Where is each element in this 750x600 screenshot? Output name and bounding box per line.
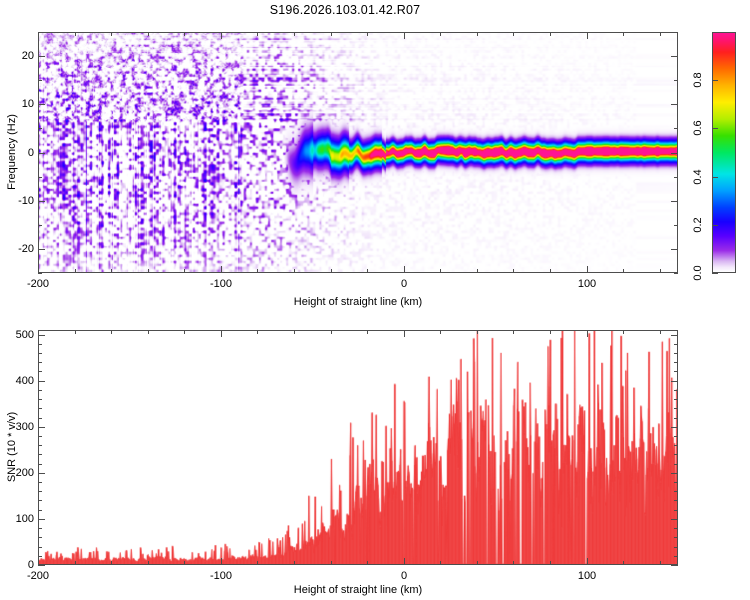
axis-tick-minor xyxy=(674,353,678,354)
page-title: S196.2026.103.01.42.R07 xyxy=(0,3,690,17)
colorbar-tick-label: 0.8 xyxy=(692,72,704,87)
axis-tick-minor xyxy=(38,399,42,400)
axis-tick-minor xyxy=(75,561,76,565)
axis-tick-minor xyxy=(674,418,678,419)
axis-tick-major xyxy=(587,266,588,273)
axis-tick-minor xyxy=(674,408,678,409)
spectrogram-plot-area xyxy=(38,32,678,273)
snr-x-axis-title: Height of straight line (km) xyxy=(294,584,422,596)
colorbar-tick-label: 0.6 xyxy=(692,120,704,135)
axis-tick-minor xyxy=(38,32,42,33)
x-tick-label: -200 xyxy=(27,570,49,582)
axis-tick-minor xyxy=(75,269,76,273)
axis-tick-minor xyxy=(674,390,678,391)
axis-tick-minor xyxy=(440,269,441,273)
colorbar xyxy=(712,32,736,273)
colorbar-gradient xyxy=(712,32,736,273)
axis-tick-major xyxy=(404,558,405,565)
axis-tick-minor xyxy=(623,330,624,334)
axis-tick-minor xyxy=(148,561,149,565)
axis-tick-major xyxy=(38,558,39,565)
spectrogram-y-axis-title: Frequency (Hz) xyxy=(6,114,18,190)
axis-tick-minor xyxy=(38,528,42,529)
axis-tick-minor xyxy=(513,330,514,334)
axis-tick-major xyxy=(221,32,222,39)
axis-tick-minor xyxy=(38,500,42,501)
axis-tick-minor xyxy=(674,273,678,274)
axis-tick-major xyxy=(671,249,678,250)
axis-tick-major xyxy=(38,104,45,105)
axis-tick-minor xyxy=(331,269,332,273)
axis-tick-minor xyxy=(674,80,678,81)
axis-tick-minor xyxy=(111,330,112,334)
y-tick-label: 20 xyxy=(6,50,34,62)
axis-tick-major xyxy=(404,266,405,273)
axis-tick-minor xyxy=(623,561,624,565)
axis-tick-minor xyxy=(674,371,678,372)
axis-tick-minor xyxy=(257,32,258,36)
axis-tick-minor xyxy=(38,482,42,483)
snr-y-axis-title: SNR (10 * v/v) xyxy=(6,412,18,482)
axis-tick-minor xyxy=(38,273,42,274)
axis-tick-minor xyxy=(294,330,295,334)
y-tick-label: -10 xyxy=(6,195,34,207)
axis-tick-minor xyxy=(477,561,478,565)
axis-tick-major xyxy=(38,249,45,250)
colorbar-tick-label: 0.0 xyxy=(692,265,704,280)
axis-tick-minor xyxy=(674,436,678,437)
axis-tick-major xyxy=(671,201,678,202)
axis-tick-major xyxy=(38,473,45,474)
axis-tick-minor xyxy=(111,561,112,565)
axis-tick-minor xyxy=(38,556,42,557)
axis-tick-major xyxy=(671,56,678,57)
axis-tick-minor xyxy=(477,269,478,273)
figure-root: S196.2026.103.01.42.R07 -200-1000100-20-… xyxy=(0,0,750,600)
axis-tick-minor xyxy=(38,362,42,363)
axis-tick-minor xyxy=(367,269,368,273)
axis-tick-minor xyxy=(477,330,478,334)
axis-tick-minor xyxy=(75,32,76,36)
axis-tick-major xyxy=(671,565,678,566)
axis-tick-major xyxy=(38,381,45,382)
axis-tick-minor xyxy=(550,330,551,334)
axis-tick-minor xyxy=(674,464,678,465)
axis-tick-minor xyxy=(674,482,678,483)
x-tick-label: -100 xyxy=(210,278,232,290)
axis-tick-major xyxy=(38,56,45,57)
axis-tick-major xyxy=(221,330,222,337)
axis-tick-minor xyxy=(38,177,42,178)
axis-tick-major xyxy=(671,104,678,105)
axis-tick-major xyxy=(404,32,405,39)
axis-tick-minor xyxy=(148,32,149,36)
axis-tick-minor xyxy=(184,269,185,273)
axis-tick-major xyxy=(671,335,678,336)
axis-tick-minor xyxy=(367,32,368,36)
axis-tick-minor xyxy=(257,561,258,565)
y-tick-label: 500 xyxy=(6,329,34,341)
axis-tick-major xyxy=(38,32,39,39)
snr-canvas xyxy=(39,331,677,564)
axis-tick-minor xyxy=(294,32,295,36)
axis-tick-minor xyxy=(38,344,42,345)
axis-tick-minor xyxy=(38,491,42,492)
axis-tick-major xyxy=(671,473,678,474)
axis-tick-minor xyxy=(38,371,42,372)
axis-tick-minor xyxy=(660,269,661,273)
axis-tick-minor xyxy=(38,418,42,419)
axis-tick-major xyxy=(38,427,45,428)
axis-tick-major xyxy=(38,519,45,520)
colorbar-tick xyxy=(712,128,718,129)
axis-tick-minor xyxy=(550,269,551,273)
axis-tick-minor xyxy=(38,225,42,226)
axis-tick-major xyxy=(221,266,222,273)
axis-tick-minor xyxy=(331,330,332,334)
axis-tick-minor xyxy=(148,269,149,273)
axis-tick-minor xyxy=(75,330,76,334)
axis-tick-minor xyxy=(257,330,258,334)
axis-tick-minor xyxy=(674,32,678,33)
axis-tick-major xyxy=(671,381,678,382)
axis-tick-minor xyxy=(674,445,678,446)
axis-tick-minor xyxy=(38,436,42,437)
x-tick-label: 0 xyxy=(401,278,407,290)
axis-tick-minor xyxy=(674,177,678,178)
axis-tick-major xyxy=(38,565,45,566)
colorbar-tick-label: 0.2 xyxy=(692,217,704,232)
axis-tick-minor xyxy=(331,561,332,565)
axis-tick-major xyxy=(587,32,588,39)
axis-tick-minor xyxy=(148,330,149,334)
colorbar-tick-label: 0.4 xyxy=(692,169,704,184)
axis-tick-minor xyxy=(184,32,185,36)
axis-tick-major xyxy=(38,335,45,336)
axis-tick-major xyxy=(221,558,222,565)
axis-tick-minor xyxy=(660,32,661,36)
axis-tick-minor xyxy=(38,547,42,548)
axis-tick-minor xyxy=(111,269,112,273)
y-tick-label: 0 xyxy=(6,559,34,571)
axis-tick-minor xyxy=(550,561,551,565)
axis-tick-minor xyxy=(367,561,368,565)
axis-tick-minor xyxy=(331,32,332,36)
snr-plot-area xyxy=(38,330,678,565)
axis-tick-minor xyxy=(674,399,678,400)
x-tick-label: 0 xyxy=(401,570,407,582)
axis-tick-minor xyxy=(294,561,295,565)
axis-tick-minor xyxy=(513,32,514,36)
spectrogram-x-axis-title: Height of straight line (km) xyxy=(294,296,422,308)
axis-tick-major xyxy=(587,558,588,565)
axis-tick-minor xyxy=(294,269,295,273)
y-tick-label: 400 xyxy=(6,375,34,387)
x-tick-label: -200 xyxy=(27,278,49,290)
axis-tick-minor xyxy=(674,362,678,363)
x-tick-label: 100 xyxy=(578,570,596,582)
colorbar-tick xyxy=(712,273,718,274)
axis-tick-minor xyxy=(38,445,42,446)
axis-tick-minor xyxy=(674,537,678,538)
y-tick-label: 10 xyxy=(6,98,34,110)
colorbar-tick xyxy=(712,225,718,226)
axis-tick-minor xyxy=(38,537,42,538)
axis-tick-minor xyxy=(38,454,42,455)
spectrogram-canvas xyxy=(39,33,677,272)
axis-tick-minor xyxy=(38,128,42,129)
axis-tick-major xyxy=(38,266,39,273)
axis-tick-minor xyxy=(38,390,42,391)
axis-tick-minor xyxy=(674,128,678,129)
axis-tick-minor xyxy=(513,561,514,565)
axis-tick-minor xyxy=(38,464,42,465)
axis-tick-minor xyxy=(477,32,478,36)
axis-tick-minor xyxy=(440,330,441,334)
axis-tick-major xyxy=(587,330,588,337)
axis-tick-minor xyxy=(674,225,678,226)
colorbar-tick xyxy=(712,80,718,81)
axis-tick-minor xyxy=(440,32,441,36)
axis-tick-minor xyxy=(440,561,441,565)
axis-tick-major xyxy=(671,153,678,154)
axis-tick-minor xyxy=(184,561,185,565)
y-tick-label: -20 xyxy=(6,243,34,255)
axis-tick-minor xyxy=(38,80,42,81)
x-tick-label: -100 xyxy=(210,570,232,582)
axis-tick-minor xyxy=(674,547,678,548)
axis-tick-minor xyxy=(623,32,624,36)
axis-tick-major xyxy=(404,330,405,337)
axis-tick-minor xyxy=(674,500,678,501)
axis-tick-minor xyxy=(257,269,258,273)
axis-tick-minor xyxy=(38,353,42,354)
axis-tick-minor xyxy=(660,330,661,334)
axis-tick-minor xyxy=(367,330,368,334)
axis-tick-minor xyxy=(674,454,678,455)
axis-tick-major xyxy=(671,519,678,520)
axis-tick-minor xyxy=(674,491,678,492)
axis-tick-major xyxy=(38,201,45,202)
axis-tick-minor xyxy=(38,510,42,511)
axis-tick-minor xyxy=(513,269,514,273)
axis-tick-minor xyxy=(550,32,551,36)
axis-tick-minor xyxy=(660,561,661,565)
axis-tick-major xyxy=(671,427,678,428)
y-tick-label: 100 xyxy=(6,513,34,525)
colorbar-tick xyxy=(712,177,718,178)
axis-tick-minor xyxy=(674,556,678,557)
axis-tick-minor xyxy=(38,408,42,409)
axis-tick-minor xyxy=(623,269,624,273)
axis-tick-minor xyxy=(674,528,678,529)
x-tick-label: 100 xyxy=(578,278,596,290)
axis-tick-minor xyxy=(674,344,678,345)
axis-tick-minor xyxy=(184,330,185,334)
axis-tick-minor xyxy=(111,32,112,36)
axis-tick-minor xyxy=(674,510,678,511)
axis-tick-major xyxy=(38,153,45,154)
